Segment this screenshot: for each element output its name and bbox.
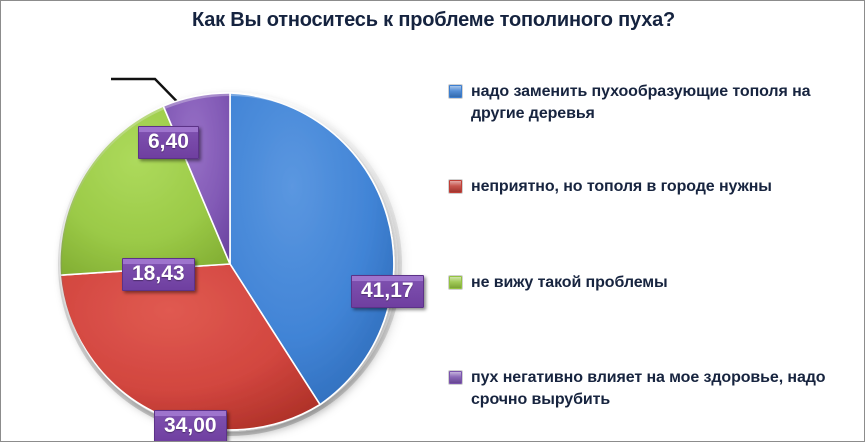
data-label-blue: 41,17 [351,275,424,308]
pie-slices [60,93,400,434]
pie-plot-area: 41,17 34,00 18,43 6,40 [37,71,427,441]
red-swatch [449,180,462,193]
green-swatch [449,276,462,289]
pie-chart-figure: Как Вы относитесь к проблеме тополиного … [0,0,865,442]
legend-label-green: не вижу такой проблемы [471,272,668,294]
chart-legend: надо заменить пухообразующие тополя на д… [449,81,857,431]
data-label-red: 34,00 [154,410,227,442]
legend-item-green[interactable]: не вижу такой проблемы [449,272,857,294]
purple-swatch [449,371,462,384]
pie-svg [37,71,427,441]
chart-title: Как Вы относитесь к проблеме тополиного … [1,9,865,32]
legend-label-red: неприятно, но тополя в городе нужны [471,176,772,198]
blue-swatch [449,85,462,98]
data-label-purple: 6,40 [138,126,199,159]
legend-item-blue[interactable]: надо заменить пухообразующие тополя на д… [449,81,857,126]
legend-label-purple: пух негативно влияет на мое здоровье, на… [471,367,857,412]
legend-item-red[interactable]: неприятно, но тополя в городе нужны [449,176,857,198]
legend-item-purple[interactable]: пух негативно влияет на мое здоровье, на… [449,367,857,412]
data-label-green: 18,43 [122,258,195,291]
legend-label-blue: надо заменить пухообразующие тополя на д… [471,81,857,126]
